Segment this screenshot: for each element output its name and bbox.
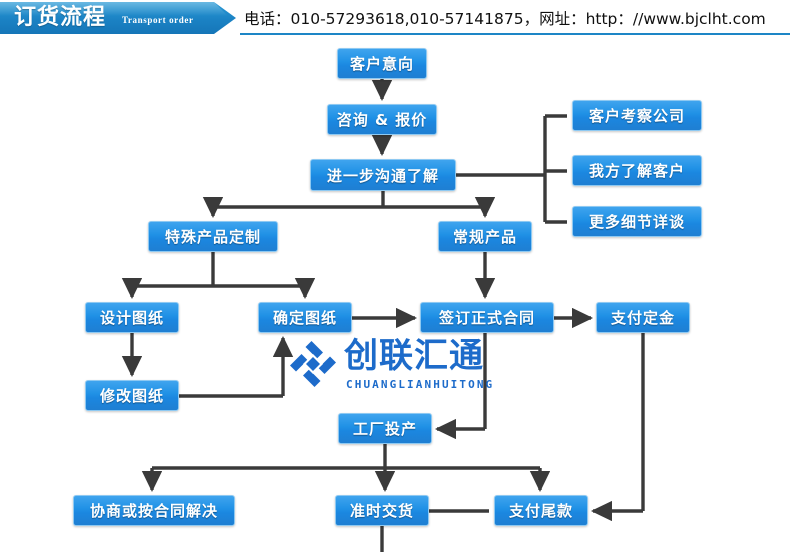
node-design-drawing[interactable]: 设计图纸 <box>85 302 179 333</box>
node-standard-product[interactable]: 常规产品 <box>438 221 532 252</box>
node-customer-intent[interactable]: 客户意向 <box>337 48 427 79</box>
order-process-flowchart-page: 订货流程 Transport order 电话：010-57293618,010… <box>0 0 790 552</box>
node-confirm-drawing[interactable]: 确定图纸 <box>258 302 352 333</box>
header-underline <box>240 33 790 35</box>
node-more-detail-discussion[interactable]: 更多细节详谈 <box>572 206 702 237</box>
node-negotiate-or-per-contract[interactable]: 协商或按合同解决 <box>73 495 235 526</box>
node-factory-production[interactable]: 工厂投产 <box>338 413 432 444</box>
node-further-communication[interactable]: 进一步沟通了解 <box>310 159 456 191</box>
node-pay-deposit[interactable]: 支付定金 <box>596 302 690 333</box>
pinwheel-logo-icon <box>288 339 338 389</box>
node-we-understand-customer[interactable]: 我方了解客户 <box>572 155 702 186</box>
node-on-time-delivery[interactable]: 准时交货 <box>335 495 429 526</box>
header-contact-text: 电话：010-57293618,010-57141875，网址：http：//w… <box>244 6 790 32</box>
watermark-name-en: CHUANGLIANHUITONG <box>346 378 494 391</box>
node-revise-drawing[interactable]: 修改图纸 <box>85 380 179 411</box>
company-watermark: 创联汇通 CHUANGLIANHUITONG <box>288 335 498 401</box>
node-custom-product[interactable]: 特殊产品定制 <box>148 221 278 252</box>
page-header: 订货流程 Transport order 电话：010-57293618,010… <box>0 0 790 40</box>
node-consult-and-quote[interactable]: 咨询 & 报价 <box>327 104 437 135</box>
node-sign-formal-contract[interactable]: 签订正式合同 <box>420 302 554 333</box>
node-pay-balance[interactable]: 支付尾款 <box>494 495 588 526</box>
watermark-name-cn: 创联汇通 <box>344 335 484 377</box>
node-customer-visits-company[interactable]: 客户考察公司 <box>572 100 702 131</box>
header-title-cn: 订货流程 <box>14 4 106 32</box>
header-title-en: Transport order <box>122 14 194 26</box>
flowchart-canvas: 客户意向 咨询 & 报价 进一步沟通了解 客户考察公司 我方了解客户 更多细节详… <box>0 40 790 552</box>
